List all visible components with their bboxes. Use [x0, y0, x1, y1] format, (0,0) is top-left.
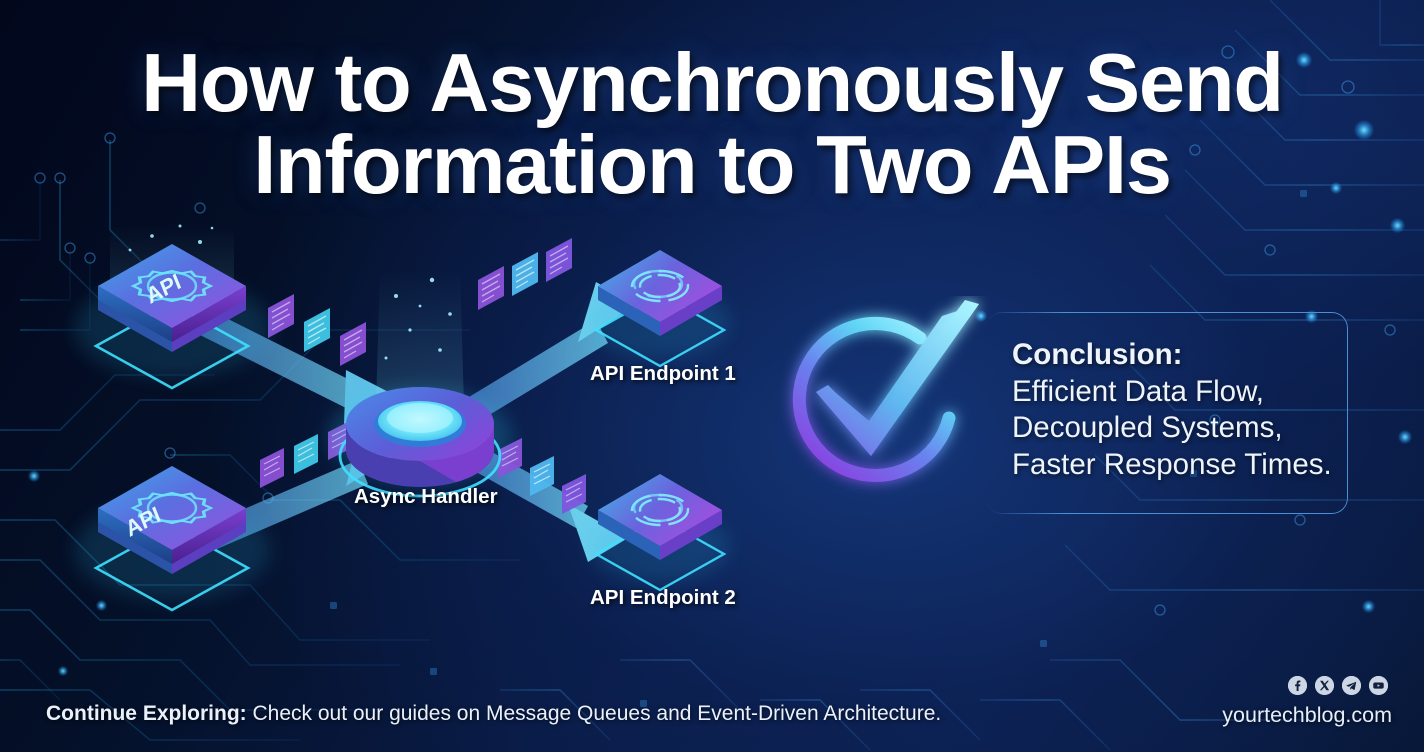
social-links: [1288, 676, 1388, 695]
facebook-icon[interactable]: [1288, 676, 1307, 695]
conclusion-line-1: Efficient Data Flow,: [1012, 374, 1357, 411]
source-api-node-2: API: [74, 466, 270, 610]
conclusion-text: Conclusion: Efficient Data Flow, Decoupl…: [1012, 337, 1357, 483]
data-packet-group-upper-right: [478, 238, 572, 310]
api-endpoint-node-2: [590, 474, 730, 590]
infographic-canvas: How to Asynchronously Send Information t…: [0, 0, 1424, 752]
api-endpoint-1-label: API Endpoint 1: [590, 362, 736, 386]
architecture-diagram: API API: [60, 210, 850, 640]
api-endpoint-2-label: API Endpoint 2: [590, 586, 736, 610]
conclusion-heading: Conclusion:: [1012, 337, 1357, 374]
bg-glow-dot: [58, 666, 68, 676]
footer-note: Continue Exploring: Check out our guides…: [46, 702, 941, 726]
bg-glow-dot: [1398, 430, 1412, 444]
youtube-icon[interactable]: [1369, 676, 1388, 695]
conclusion-line-2: Decoupled Systems,: [1012, 410, 1357, 447]
checkmark-graphic: [772, 296, 994, 524]
async-handler-label: Async Handler: [354, 485, 498, 509]
api-endpoint-node-1: [590, 250, 730, 366]
x-twitter-icon[interactable]: [1315, 676, 1334, 695]
site-url[interactable]: yourtechblog.com: [1222, 703, 1392, 728]
conclusion-line-3: Faster Response Times.: [1012, 447, 1357, 484]
footer-cta-text: Check out our guides on Message Queues a…: [247, 702, 942, 725]
title-line-1: How to Asynchronously Send: [141, 36, 1283, 129]
telegram-icon[interactable]: [1342, 676, 1361, 695]
source-api-node-1: API: [74, 224, 270, 388]
page-title: How to Asynchronously Send Information t…: [0, 42, 1424, 206]
title-line-2: Information to Two APIs: [0, 124, 1424, 206]
footer-cta-label: Continue Exploring:: [46, 702, 247, 725]
bg-glow-dot: [1390, 218, 1405, 233]
bg-glow-dot: [1362, 600, 1375, 613]
bg-glow-dot: [28, 470, 40, 482]
